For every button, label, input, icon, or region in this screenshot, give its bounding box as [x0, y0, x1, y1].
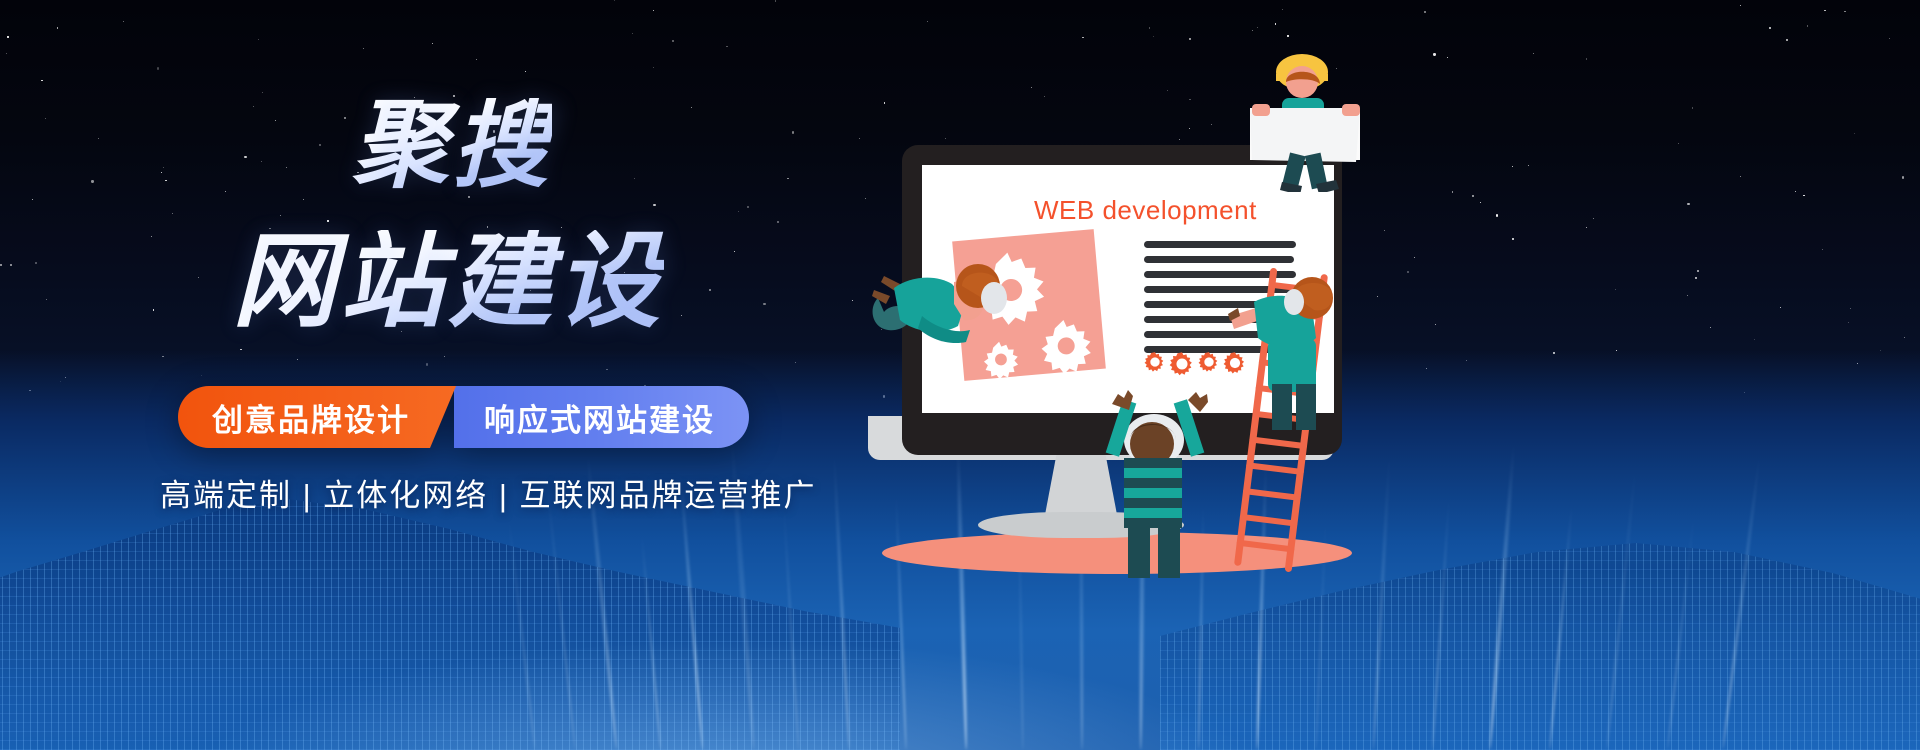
page-title-line2: 网站建设	[232, 230, 664, 334]
person-worker-icon	[1238, 42, 1378, 192]
banner-root: 聚搜 网站建设 创意品牌设计 响应式网站建设 高端定制 | 立体化网络 | 互联…	[0, 0, 1920, 750]
screen-text-line	[1144, 256, 1294, 263]
person-child-reaching	[1096, 382, 1206, 572]
badge-creative-brand-design[interactable]: 创意品牌设计	[178, 386, 456, 448]
ladder-step	[1249, 436, 1307, 449]
screen-text-line	[1144, 241, 1296, 248]
person-worker-top	[1238, 42, 1368, 182]
tagline-text: 高端定制 | 立体化网络 | 互联网品牌运营推广	[160, 470, 817, 515]
ladder-step	[1236, 540, 1294, 553]
orange-gear-icon	[1198, 351, 1220, 382]
badge-responsive-web-build[interactable]: 响应式网站建设	[454, 386, 749, 448]
headline-block: 聚搜 网站建设 创意品牌设计 响应式网站建设 高端定制 | 立体化网络 | 互联…	[0, 0, 900, 750]
screen-title-text: WEB development	[1034, 195, 1257, 226]
service-badge-group: 创意品牌设计 响应式网站建设	[178, 386, 749, 448]
person-ladder-icon	[1228, 272, 1368, 432]
ladder-step	[1246, 462, 1304, 475]
person-child-icon	[1096, 382, 1216, 582]
person-hanging-left	[866, 242, 1016, 352]
ladder-step	[1243, 488, 1301, 501]
web-development-illustration: WEB development	[860, 20, 1920, 750]
orange-gear-icon	[1169, 351, 1195, 382]
person-on-ladder	[1228, 272, 1358, 422]
page-title-line1: 聚搜	[352, 98, 552, 194]
ladder-step	[1240, 514, 1298, 527]
person-hanging-icon	[866, 242, 1026, 362]
orange-gear-icon	[1144, 351, 1166, 382]
